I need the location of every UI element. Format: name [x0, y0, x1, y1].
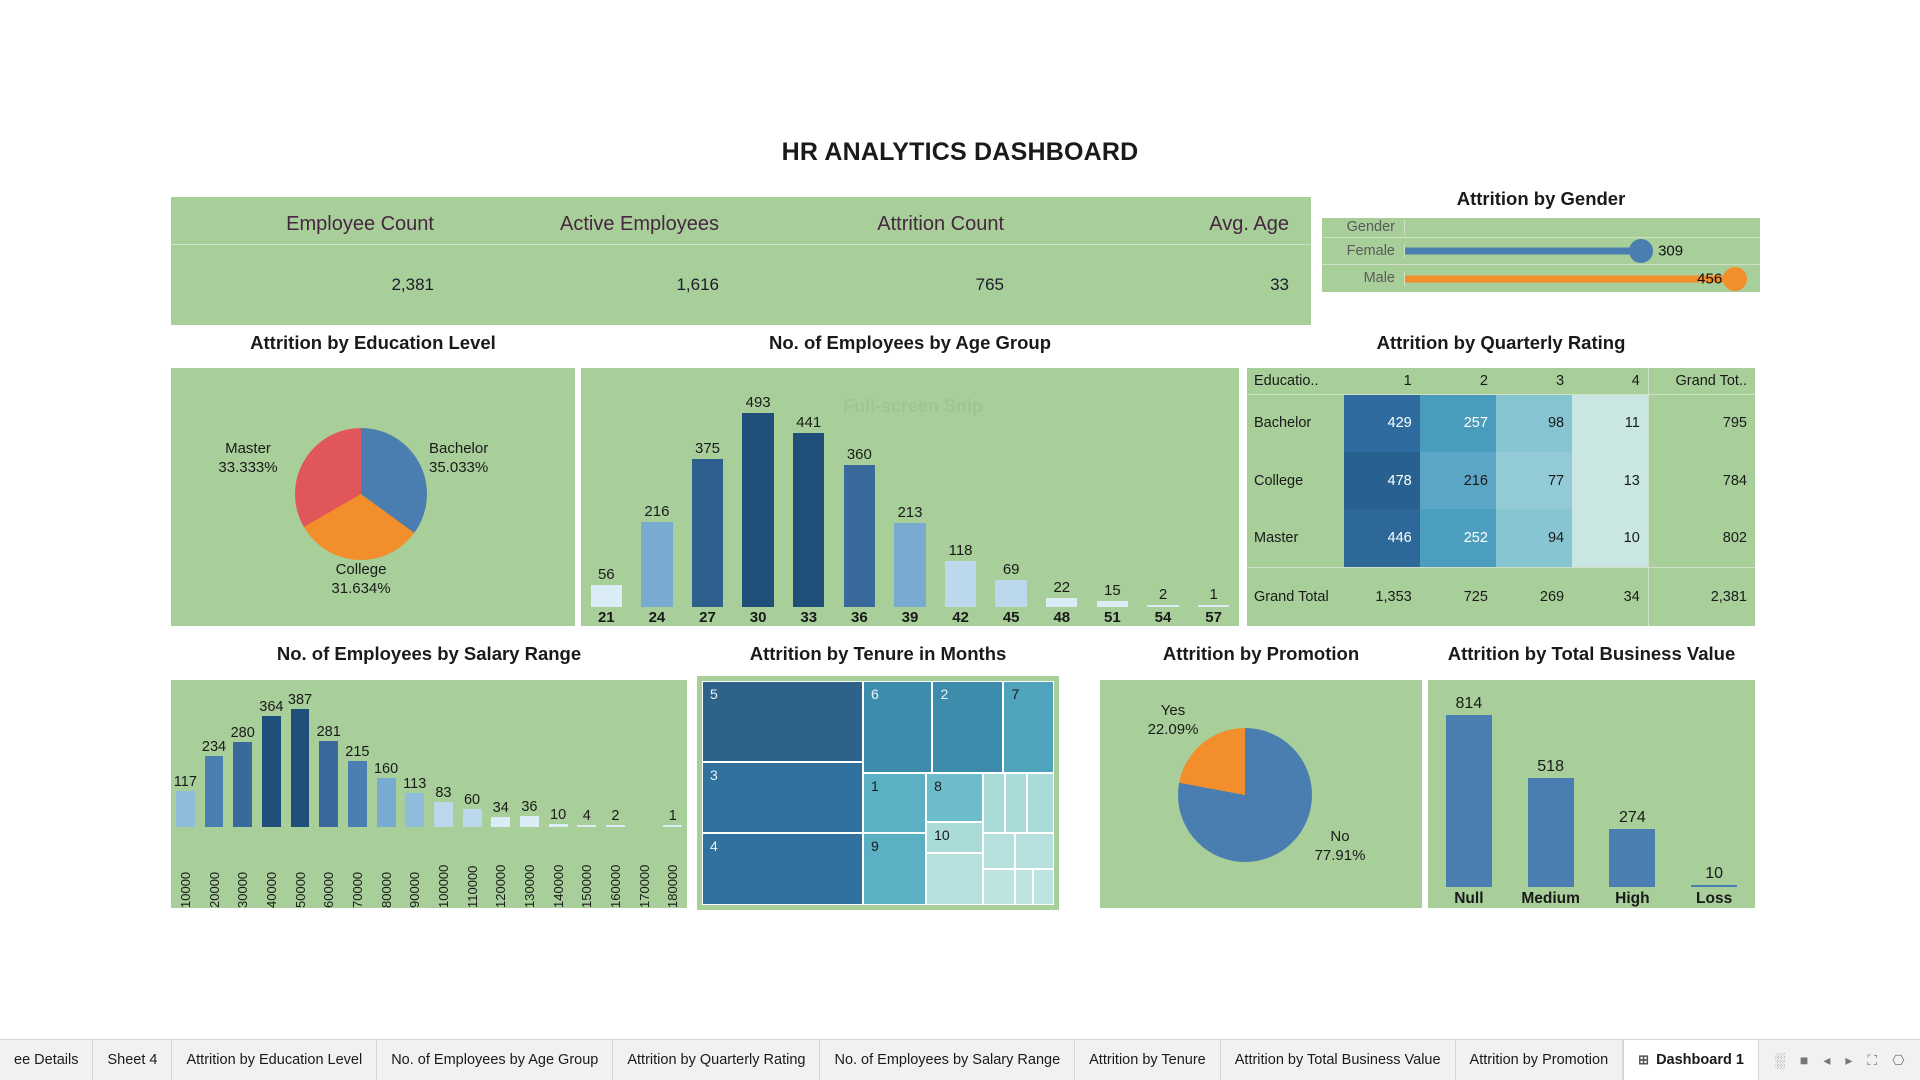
bar-rect: [663, 825, 682, 827]
bar-value-label: 215: [345, 744, 369, 760]
bar-value-label: 280: [231, 725, 255, 741]
bar-column[interactable]: 34120000: [486, 680, 515, 908]
bar-category-label: High: [1615, 890, 1649, 908]
bar-value-label: 234: [202, 739, 226, 755]
bar-rect: [348, 761, 367, 827]
cell-master-total: 802: [1648, 509, 1755, 567]
bar-value-label: 4: [583, 808, 591, 824]
salary-bars-container: 1171000023420000280300003644000038750000…: [171, 680, 687, 908]
education-pie: [295, 428, 427, 560]
bar-column[interactable]: 16080000: [372, 680, 401, 908]
gender-value-male: 456: [1697, 270, 1722, 287]
bar-column[interactable]: 28030000: [228, 680, 257, 908]
kpi-value-active-employees: 1,616: [456, 245, 741, 324]
gender-track: 456: [1405, 265, 1760, 292]
bar-value-label: 69: [1003, 561, 1020, 578]
bar-column[interactable]: 157: [1188, 368, 1239, 626]
treemap-container: 53462718910: [702, 681, 1054, 905]
gender-dot-male: [1723, 267, 1747, 291]
table-row[interactable]: College 478 216 77 13 784: [1247, 452, 1755, 510]
treemap-tile-label: 2: [940, 686, 948, 702]
bar-rect: [205, 756, 224, 827]
bar-rect: [606, 825, 625, 827]
cell-master-4: 10: [1572, 509, 1648, 567]
prev-sheet-icon[interactable]: ◂: [1823, 1053, 1830, 1067]
treemap-tile-small[interactable]: [1005, 773, 1027, 833]
bar-value-label: 56: [598, 566, 615, 583]
bar-value-label: 375: [695, 440, 720, 457]
quarterly-matrix: Educatio.. 1 2 3 4 Grand Tot.. Bachelor …: [1247, 368, 1755, 626]
gender-row-label: Male: [1322, 271, 1405, 286]
bar-category-label: 24: [649, 609, 666, 626]
cell-grand-total-all: 2,381: [1648, 567, 1755, 626]
dashboard-grid-icon: ⊞: [1638, 1052, 1649, 1068]
attrition-by-tenure-treemap[interactable]: 53462718910: [697, 676, 1059, 910]
cell-grand-total-3: 269: [1496, 567, 1572, 626]
age-group-chart-title: No. of Employees by Age Group: [581, 332, 1239, 354]
bar-category-label: 140000: [551, 830, 566, 908]
treemap-tile[interactable]: 1: [863, 773, 926, 833]
bar-rect: [463, 809, 482, 827]
bar-category-label: 10000: [178, 830, 193, 908]
employees-by-salary-range-chart[interactable]: 1171000023420000280300003644000038750000…: [171, 680, 687, 908]
bar-rect: [291, 709, 310, 827]
bar-column[interactable]: 11710000: [171, 680, 200, 908]
bar-value-label: 360: [847, 446, 872, 463]
kpi-value: 765: [976, 275, 1004, 295]
bar-rect: [1147, 605, 1178, 607]
bar-category-label: 60000: [321, 830, 336, 908]
bar-category-label: 120000: [493, 830, 508, 908]
bar-category-label: 90000: [407, 830, 422, 908]
treemap-tile-small[interactable]: [983, 869, 1015, 905]
page-title: HR ANALYTICS DASHBOARD: [0, 138, 1920, 167]
bar-column[interactable]: 38750000: [286, 680, 315, 908]
bar-column[interactable]: 36036: [834, 368, 885, 626]
bar-value-label: 10: [550, 807, 566, 823]
bar-category-label: Null: [1454, 890, 1483, 908]
business-value-chart-title: Attrition by Total Business Value: [1428, 643, 1755, 665]
bar-category-label: 54: [1155, 609, 1172, 626]
row-label-grand-total: Grand Total: [1247, 567, 1344, 626]
presentation-mode-icon[interactable]: ⎔: [1892, 1053, 1904, 1067]
bar-rect: [641, 522, 672, 607]
treemap-tile-small[interactable]: [926, 853, 983, 905]
kpi-value-employee-count: 2,381: [171, 245, 456, 324]
bar-value-label: 60: [464, 792, 480, 808]
bar-category-label: 57: [1205, 609, 1222, 626]
bar-column[interactable]: 11390000: [400, 680, 429, 908]
kpi-summary-panel: Employee Count Active Employees Attritio…: [171, 197, 1311, 325]
bar-value-label: 441: [796, 414, 821, 431]
pie-label-bachelor: Bachelor 35.033%: [429, 440, 488, 478]
bar-column[interactable]: 1551: [1087, 368, 1138, 626]
pie-label-no: No 77.91%: [1280, 828, 1400, 866]
cell-college-2: 216: [1420, 452, 1496, 510]
tab-attrition-by-total-business-value[interactable]: Attrition by Total Business Value: [1221, 1040, 1456, 1080]
tab-dashboard-1[interactable]: ⊞ Dashboard 1: [1623, 1040, 1759, 1080]
bar-value-label: 2: [611, 808, 619, 824]
bar-category-label: 48: [1053, 609, 1070, 626]
cell-bachelor-1: 429: [1344, 394, 1420, 452]
pie-label-college: College 31.634%: [291, 561, 431, 599]
bar-rect: [995, 580, 1026, 607]
treemap-tile-small[interactable]: [983, 833, 1015, 869]
dashboard-stage: HR ANALYTICS DASHBOARD Employee Count Ac…: [0, 0, 1920, 1080]
table-row-grand-total: Grand Total 1,353 725 269 34 2,381: [1247, 567, 1755, 626]
bar-category-label: 33: [800, 609, 817, 626]
bar-value-label: 117: [174, 774, 197, 790]
bar-value-label: 22: [1053, 579, 1070, 596]
bar-column[interactable]: 814Null: [1428, 680, 1510, 908]
bar-value-label: 274: [1619, 809, 1646, 827]
kpi-value: 2,381: [391, 275, 434, 295]
worksheet-tab-bar: ee Details Sheet 4 Attrition by Educatio…: [0, 1039, 1920, 1080]
bar-category-label: 160000: [608, 830, 623, 908]
kpi-label: Active Employees: [560, 213, 719, 236]
bar-column[interactable]: 2160000: [601, 680, 630, 908]
promotion-chart-title: Attrition by Promotion: [1100, 643, 1422, 665]
attrition-by-gender-chart[interactable]: Gender Female 309 Male 456: [1322, 218, 1760, 292]
bar-rect: [491, 817, 510, 827]
cell-grand-total-4: 34: [1572, 567, 1648, 626]
bar-category-label: 80000: [379, 830, 394, 908]
treemap-tile-label: 3: [710, 767, 718, 783]
gender-dot-female: [1629, 239, 1653, 263]
bar-rect: [1528, 778, 1574, 887]
cell-bachelor-2: 257: [1420, 394, 1496, 452]
kpi-col-avg-age: Avg. Age: [1026, 197, 1311, 244]
bar-column[interactable]: 36440000: [257, 680, 286, 908]
bar-category-label: Medium: [1521, 890, 1580, 908]
bar-value-label: 364: [259, 699, 283, 715]
bar-column[interactable]: 60110000: [458, 680, 487, 908]
gender-value-female: 309: [1658, 243, 1683, 260]
bar-column[interactable]: 28160000: [314, 680, 343, 908]
bar-value-label: 2: [1159, 586, 1167, 603]
bar-category-label: 100000: [436, 830, 451, 908]
bar-value-label: 814: [1456, 695, 1483, 713]
cell-college-4: 13: [1572, 452, 1648, 510]
treemap-tile-label: 6: [871, 686, 879, 702]
treemap-tile-label: 5: [710, 686, 718, 702]
bar-value-label: 1: [1209, 586, 1217, 603]
cell-grand-total-1: 1,353: [1344, 567, 1420, 626]
bar-column[interactable]: 5621: [581, 368, 632, 626]
tab-employees-by-salary-range[interactable]: No. of Employees by Salary Range: [820, 1040, 1075, 1080]
gender-header-label: Gender: [1322, 220, 1405, 235]
tab-toolbar: ░ ■ ◂ ▸ ⛶ ⎔: [1759, 1040, 1920, 1080]
bar-value-label: 387: [288, 692, 312, 708]
bar-value-label: 83: [435, 785, 451, 801]
bar-rect: [405, 793, 424, 827]
bar-value-label: 36: [521, 799, 537, 815]
bar-category-label: 130000: [522, 830, 537, 908]
gender-header-row: Gender: [1322, 218, 1760, 238]
treemap-tile-small[interactable]: [1015, 869, 1034, 905]
bar-column[interactable]: 518Medium: [1510, 680, 1592, 908]
attrition-by-quarterly-rating-table[interactable]: Educatio.. 1 2 3 4 Grand Tot.. Bachelor …: [1247, 368, 1755, 626]
bar-column[interactable]: 6945: [986, 368, 1037, 626]
col-header-2: 2: [1420, 368, 1496, 394]
treemap-tile[interactable]: 2: [932, 681, 1003, 773]
cell-grand-total-2: 725: [1420, 567, 1496, 626]
bar-column[interactable]: 44133: [783, 368, 834, 626]
col-header-4: 4: [1572, 368, 1648, 394]
bar-column[interactable]: 36130000: [515, 680, 544, 908]
bar-category-label: 70000: [350, 830, 365, 908]
table-header-row: Educatio.. 1 2 3 4 Grand Tot..: [1247, 368, 1755, 394]
bar-category-label: Loss: [1696, 890, 1732, 908]
bar-category-label: 51: [1104, 609, 1121, 626]
employees-by-age-group-chart[interactable]: Full-screen Snip 56212162437527493304413…: [581, 368, 1239, 626]
tab-attrition-by-quarterly-rating[interactable]: Attrition by Quarterly Rating: [613, 1040, 820, 1080]
quarterly-rating-chart-title: Attrition by Quarterly Rating: [1247, 332, 1755, 354]
bar-category-label: 42: [952, 609, 969, 626]
bar-column[interactable]: 21624: [632, 368, 683, 626]
treemap-tile-label: 8: [934, 778, 942, 794]
bar-rect: [176, 791, 195, 827]
tab-employee-details[interactable]: ee Details: [0, 1040, 93, 1080]
treemap-tile-small[interactable]: [1033, 869, 1054, 905]
cell-master-1: 446: [1344, 509, 1420, 567]
next-sheet-icon[interactable]: ▸: [1845, 1053, 1852, 1067]
treemap-tile-small[interactable]: [1027, 773, 1054, 833]
cell-bachelor-3: 98: [1496, 394, 1572, 452]
bar-value-label: 1: [669, 808, 677, 824]
bar-column[interactable]: 23420000: [200, 680, 229, 908]
bar-value-label: 216: [644, 503, 669, 520]
pie-label-yes: Yes 22.09%: [1118, 702, 1228, 740]
bar-rect: [1046, 598, 1077, 607]
cell-bachelor-4: 11: [1572, 394, 1648, 452]
bar-rect: [945, 561, 976, 607]
kpi-label: Avg. Age: [1209, 213, 1289, 236]
treemap-tile-label: 1: [871, 778, 879, 794]
bar-value-label: 118: [949, 542, 973, 559]
bar-column[interactable]: 37527: [682, 368, 733, 626]
new-dashboard-icon[interactable]: ■: [1800, 1053, 1808, 1067]
bar-rect: [1097, 601, 1128, 607]
bar-rect: [844, 465, 875, 607]
bar-value-label: 10: [1705, 865, 1723, 883]
bar-column[interactable]: 21339: [885, 368, 936, 626]
bar-value-label: 281: [317, 724, 341, 740]
treemap-tile[interactable]: 7: [1003, 681, 1054, 773]
bar-rect: [434, 802, 453, 827]
bar-rect: [591, 585, 622, 607]
bar-rect: [692, 459, 723, 607]
bar-value-label: 113: [403, 776, 426, 792]
cell-master-3: 94: [1496, 509, 1572, 567]
cell-bachelor-total: 795: [1648, 394, 1755, 452]
bar-column[interactable]: 1180000: [658, 680, 687, 908]
gender-bar-male: [1405, 275, 1735, 282]
cell-master-2: 252: [1420, 509, 1496, 567]
treemap-tile-small[interactable]: [1015, 833, 1054, 869]
col-header-3: 3: [1496, 368, 1572, 394]
tab-label: Dashboard 1: [1656, 1052, 1744, 1068]
gender-row-label: Female: [1322, 244, 1405, 259]
bar-rect: [793, 433, 824, 607]
bar-rect: [377, 778, 396, 827]
pie-label-master: Master 33.333%: [193, 440, 303, 478]
row-label-master: Master: [1247, 509, 1344, 567]
bar-category-label: 30000: [235, 830, 250, 908]
treemap-tile-label: 7: [1011, 686, 1019, 702]
attrition-by-promotion-chart[interactable]: Yes 22.09% No 77.91%: [1100, 680, 1422, 908]
gender-chart-title: Attrition by Gender: [1322, 188, 1760, 210]
treemap-tile[interactable]: 5: [702, 681, 863, 762]
gender-track: 309: [1405, 238, 1760, 264]
treemap-tile[interactable]: 10: [926, 822, 983, 853]
tab-sheet-4[interactable]: Sheet 4: [93, 1040, 172, 1080]
bar-value-label: 34: [493, 800, 509, 816]
kpi-value: 1,616: [676, 275, 719, 295]
bar-rect: [1198, 605, 1229, 607]
kpi-header-row: Employee Count Active Employees Attritio…: [171, 197, 1311, 245]
bar-rect: [1691, 885, 1737, 887]
business-value-bars-container: 814Null518Medium274High10Loss: [1428, 680, 1755, 908]
row-label-bachelor: Bachelor: [1247, 394, 1344, 452]
bar-rect: [520, 816, 539, 827]
treemap-tile-label: 9: [871, 838, 879, 854]
tab-attrition-by-tenure[interactable]: Attrition by Tenure: [1075, 1040, 1221, 1080]
kpi-col-employee-count: Employee Count: [171, 197, 456, 244]
gender-bar-female: [1405, 248, 1641, 255]
bar-category-label: 180000: [665, 830, 680, 908]
kpi-label: Attrition Count: [877, 213, 1004, 236]
bar-rect: [1446, 715, 1492, 887]
fit-screen-icon[interactable]: ⛶: [1867, 1053, 1877, 1067]
table-row[interactable]: Bachelor 429 257 98 11 795: [1247, 394, 1755, 452]
kpi-col-attrition-count: Attrition Count: [741, 197, 1026, 244]
bar-category-label: 39: [902, 609, 919, 626]
treemap-tile-label: 4: [710, 838, 718, 854]
age-bars-container: 5621216243752749330441333603621339118426…: [581, 368, 1239, 626]
bar-rect: [577, 825, 596, 827]
kpi-value-avg-age: 33: [1026, 245, 1311, 324]
row-label-college: College: [1247, 452, 1344, 510]
bar-column[interactable]: 2248: [1036, 368, 1087, 626]
treemap-tile[interactable]: 4: [702, 833, 863, 905]
bar-rect: [233, 742, 252, 827]
kpi-value-row: 2,381 1,616 765 33: [171, 245, 1311, 324]
gender-row-male[interactable]: Male 456: [1322, 265, 1760, 292]
col-header-1: 1: [1344, 368, 1420, 394]
bar-column[interactable]: 10140000: [544, 680, 573, 908]
attrition-by-total-business-value-chart[interactable]: 814Null518Medium274High10Loss: [1428, 680, 1755, 908]
bar-rect: [262, 716, 281, 827]
kpi-col-active-employees: Active Employees: [456, 197, 741, 244]
bar-column[interactable]: 170000: [630, 680, 659, 908]
bar-rect: [549, 824, 568, 827]
tenure-chart-title: Attrition by Tenure in Months: [697, 643, 1059, 665]
bar-column[interactable]: 21570000: [343, 680, 372, 908]
kpi-label: Employee Count: [286, 213, 434, 236]
bar-category-label: 170000: [637, 830, 652, 908]
bar-column[interactable]: 11842: [935, 368, 986, 626]
bar-category-label: 21: [598, 609, 615, 626]
bar-category-label: 45: [1003, 609, 1020, 626]
bar-category-label: 27: [699, 609, 716, 626]
bar-value-label: 518: [1537, 758, 1564, 776]
bar-column[interactable]: 49330: [733, 368, 784, 626]
kpi-value-attrition-count: 765: [741, 245, 1026, 324]
new-worksheet-icon[interactable]: ░: [1775, 1053, 1785, 1067]
bar-column[interactable]: 4150000: [572, 680, 601, 908]
treemap-tile-label: 10: [934, 827, 950, 843]
bar-category-label: 150000: [579, 830, 594, 908]
cell-college-3: 77: [1496, 452, 1572, 510]
treemap-tile[interactable]: 3: [702, 762, 863, 834]
bar-column[interactable]: 83100000: [429, 680, 458, 908]
bar-category-label: 36: [851, 609, 868, 626]
bar-category-label: 50000: [293, 830, 308, 908]
salary-range-chart-title: No. of Employees by Salary Range: [171, 643, 687, 665]
bar-column[interactable]: 274High: [1592, 680, 1674, 908]
bar-column[interactable]: 10Loss: [1673, 680, 1755, 908]
treemap-tile[interactable]: 8: [926, 773, 983, 822]
bar-category-label: 40000: [264, 830, 279, 908]
bar-value-label: 493: [746, 394, 771, 411]
treemap-tile[interactable]: 9: [863, 833, 926, 905]
education-chart-title: Attrition by Education Level: [171, 332, 575, 354]
kpi-value: 33: [1270, 275, 1289, 295]
attrition-by-education-level-chart[interactable]: Bachelor 35.033% College 31.634% Master …: [171, 368, 575, 626]
bar-category-label: 30: [750, 609, 767, 626]
col-header-education: Educatio..: [1247, 368, 1344, 394]
bar-rect: [319, 741, 338, 827]
bar-rect: [1609, 829, 1655, 887]
bar-value-label: 160: [374, 761, 398, 777]
tab-attrition-by-education-level[interactable]: Attrition by Education Level: [172, 1040, 377, 1080]
treemap-tile[interactable]: 6: [863, 681, 932, 773]
bar-column[interactable]: 254: [1138, 368, 1189, 626]
table-row[interactable]: Master 446 252 94 10 802: [1247, 509, 1755, 567]
bar-rect: [742, 413, 773, 607]
gender-row-female[interactable]: Female 309: [1322, 238, 1760, 265]
bar-value-label: 15: [1104, 582, 1121, 599]
tab-employees-by-age-group[interactable]: No. of Employees by Age Group: [377, 1040, 613, 1080]
cell-college-total: 784: [1648, 452, 1755, 510]
bar-rect: [894, 523, 925, 607]
treemap-tile-small[interactable]: [983, 773, 1005, 833]
cell-college-1: 478: [1344, 452, 1420, 510]
col-header-grand-total: Grand Tot..: [1648, 368, 1755, 394]
bar-value-label: 213: [897, 504, 922, 521]
bar-category-label: 110000: [465, 830, 480, 908]
bar-category-label: 20000: [207, 830, 222, 908]
tab-attrition-by-promotion[interactable]: Attrition by Promotion: [1456, 1040, 1624, 1080]
